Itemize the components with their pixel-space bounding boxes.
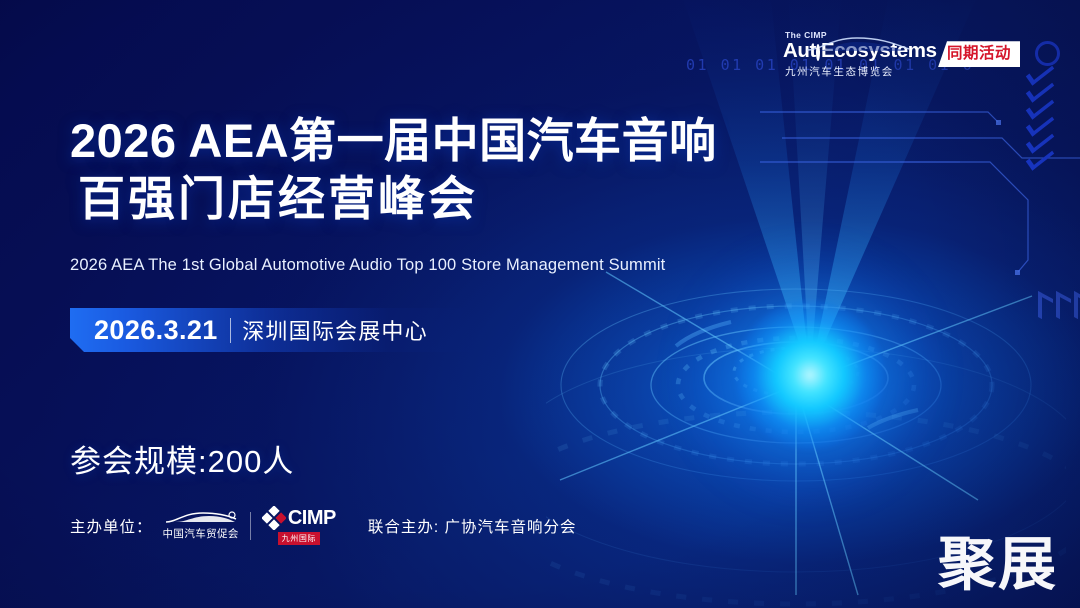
event-date: 2026.3.21	[94, 315, 218, 346]
subtitle-english: 2026 AEA The 1st Global Automotive Audio…	[70, 256, 665, 275]
host-logo-cimp: CIMP 九州国际	[262, 506, 336, 545]
page-title: 2026 AEA第一届中国汽车音响 百强门店经营峰会	[70, 116, 717, 224]
car-swoosh-icon	[163, 510, 239, 525]
title-line-1: 2026 AEA第一届中国汽车音响	[70, 116, 717, 166]
watermark: 聚展	[938, 536, 1058, 594]
status-badge: 同期活动	[938, 41, 1020, 67]
cimp-diamond-icon	[262, 506, 286, 530]
organizers-row: 主办单位： 中国汽车贸促会 CIMP	[70, 506, 576, 545]
organizer-divider	[250, 512, 251, 540]
banner-divider	[230, 318, 232, 343]
cimp-mark-sub: 九州国际	[278, 532, 320, 545]
host-label: 主办单位：	[70, 515, 153, 537]
date-venue-banner: 2026.3.21 深圳国际会展中心	[70, 308, 478, 352]
event-poster: 01 01 01 01 01 01 01 01 0 The CIMP Aut E…	[0, 0, 1080, 608]
title-line-2: 百强门店经营峰会	[78, 174, 717, 224]
cimp-mark-row: CIMP	[262, 506, 336, 530]
car-silhouette-icon	[805, 36, 911, 52]
attendance-scale: 参会规模:200人	[70, 436, 294, 481]
host-logo-ccpit: 中国汽车贸促会	[163, 510, 239, 541]
event-venue: 深圳国际会展中心	[242, 314, 428, 346]
co-host-label: 联合主办: 广协汽车音响分会	[368, 515, 577, 537]
cimp-logo: The CIMP Aut Ecosystems 九州汽车生态博览会	[783, 30, 931, 79]
cimp-mark-text: CIMP	[288, 508, 336, 528]
event-logo-block: The CIMP Aut Ecosystems 九州汽车生态博览会 同期活动	[783, 30, 1020, 79]
cimp-logo-sub-text: 九州汽车生态博览会	[785, 64, 931, 79]
host-logo-ccpit-label: 中国汽车贸促会	[163, 526, 239, 541]
